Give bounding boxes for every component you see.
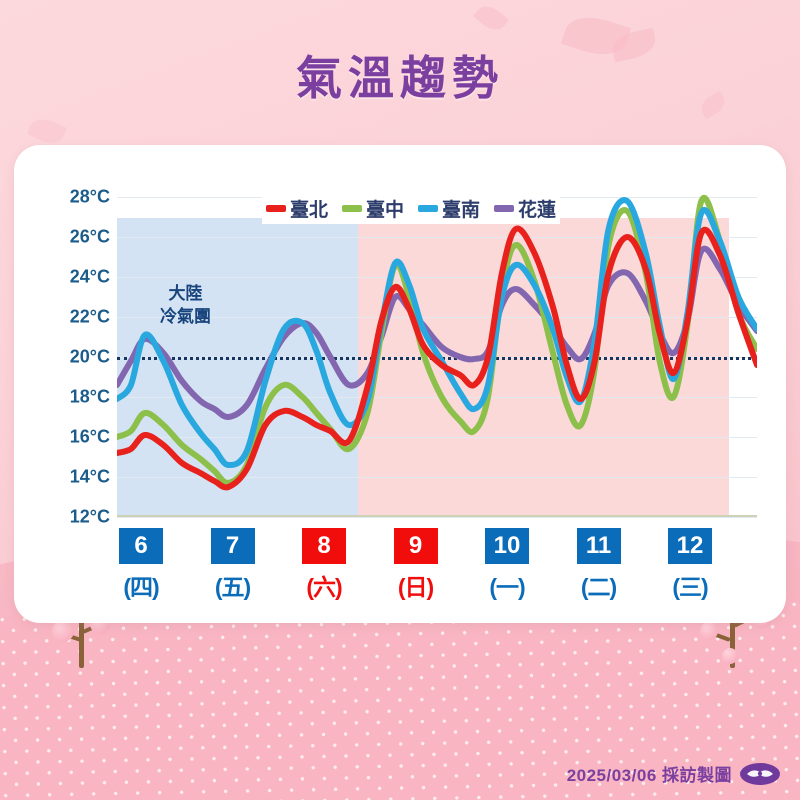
legend-item-1: 臺中 — [342, 195, 404, 222]
legend-label-0: 臺北 — [290, 195, 328, 222]
page-title: 氣溫趨勢 — [0, 42, 800, 108]
legend-label-2: 臺南 — [442, 195, 480, 222]
cold-air-annotation-line2: 冷氣團 — [160, 306, 211, 329]
day-number-chip-11: 11 — [577, 528, 621, 564]
day-weekday-label-8: (六) — [306, 568, 341, 602]
day-number-chip-10: 10 — [485, 528, 529, 564]
x-axis-day-11: 11(二) — [557, 528, 641, 602]
footer-credit-text: 2025/03/06 採訪製圖 — [567, 761, 732, 786]
x-axis-day-12: 12(三) — [648, 528, 732, 602]
day-number-chip-8: 8 — [302, 528, 346, 564]
day-weekday-label-7: (五) — [215, 568, 250, 602]
legend-label-1: 臺中 — [366, 195, 404, 222]
day-weekday-label-11: (二) — [581, 568, 616, 602]
chart-plot-area — [117, 197, 757, 517]
legend-swatch-taipei — [266, 205, 286, 212]
y-axis-tick-20: 20°C — [40, 347, 110, 368]
day-number-chip-12: 12 — [668, 528, 712, 564]
footer: 2025/03/06 採訪製圖 — [567, 761, 780, 786]
petal-decoration — [473, 1, 509, 36]
legend-item-3: 花蓮 — [494, 195, 556, 222]
petal-decoration — [27, 114, 67, 148]
day-number-chip-9: 9 — [394, 528, 438, 564]
day-weekday-label-9: (日) — [398, 568, 433, 602]
x-axis-line — [117, 515, 757, 517]
x-axis-day-7: 7(五) — [191, 528, 275, 602]
gridline-12 — [117, 517, 757, 518]
day-weekday-label-10: (一) — [489, 568, 524, 602]
y-axis-tick-28: 28°C — [40, 187, 110, 208]
x-axis-day-8: 8(六) — [282, 528, 366, 602]
bird-logo-icon — [740, 763, 780, 785]
y-axis-tick-14: 14°C — [40, 467, 110, 488]
day-number-chip-6: 6 — [119, 528, 163, 564]
x-axis-day-6: 6(四) — [99, 528, 183, 602]
legend-item-0: 臺北 — [266, 195, 328, 222]
cold-air-annotation-line1: 大陸 — [160, 283, 211, 306]
temperature-series-lines — [117, 197, 757, 517]
cold-air-annotation: 大陸 冷氣團 — [160, 283, 211, 329]
y-axis-tick-26: 26°C — [40, 227, 110, 248]
legend-swatch-hualien — [494, 205, 514, 212]
day-weekday-label-6: (四) — [123, 568, 158, 602]
legend-label-3: 花蓮 — [518, 195, 556, 222]
legend-swatch-taichung — [342, 205, 362, 212]
x-axis-day-10: 10(一) — [465, 528, 549, 602]
y-axis-tick-18: 18°C — [40, 387, 110, 408]
x-axis-day-labels: 6(四)7(五)8(六)9(日)10(一)11(二)12(三) — [117, 528, 757, 608]
day-weekday-label-12: (三) — [672, 568, 707, 602]
x-axis-day-9: 9(日) — [374, 528, 458, 602]
day-number-chip-7: 7 — [211, 528, 255, 564]
y-axis-tick-12: 12°C — [40, 507, 110, 528]
y-axis-tick-16: 16°C — [40, 427, 110, 448]
y-axis-tick-24: 24°C — [40, 267, 110, 288]
y-axis-tick-22: 22°C — [40, 307, 110, 328]
legend-item-2: 臺南 — [418, 195, 480, 222]
weather-chart-infographic: 氣溫趨勢 28°C26°C24°C22°C20°C18°C16°C14°C12°… — [0, 0, 800, 800]
chart-legend: 臺北臺中臺南花蓮 — [262, 193, 560, 224]
legend-swatch-tainan — [418, 205, 438, 212]
